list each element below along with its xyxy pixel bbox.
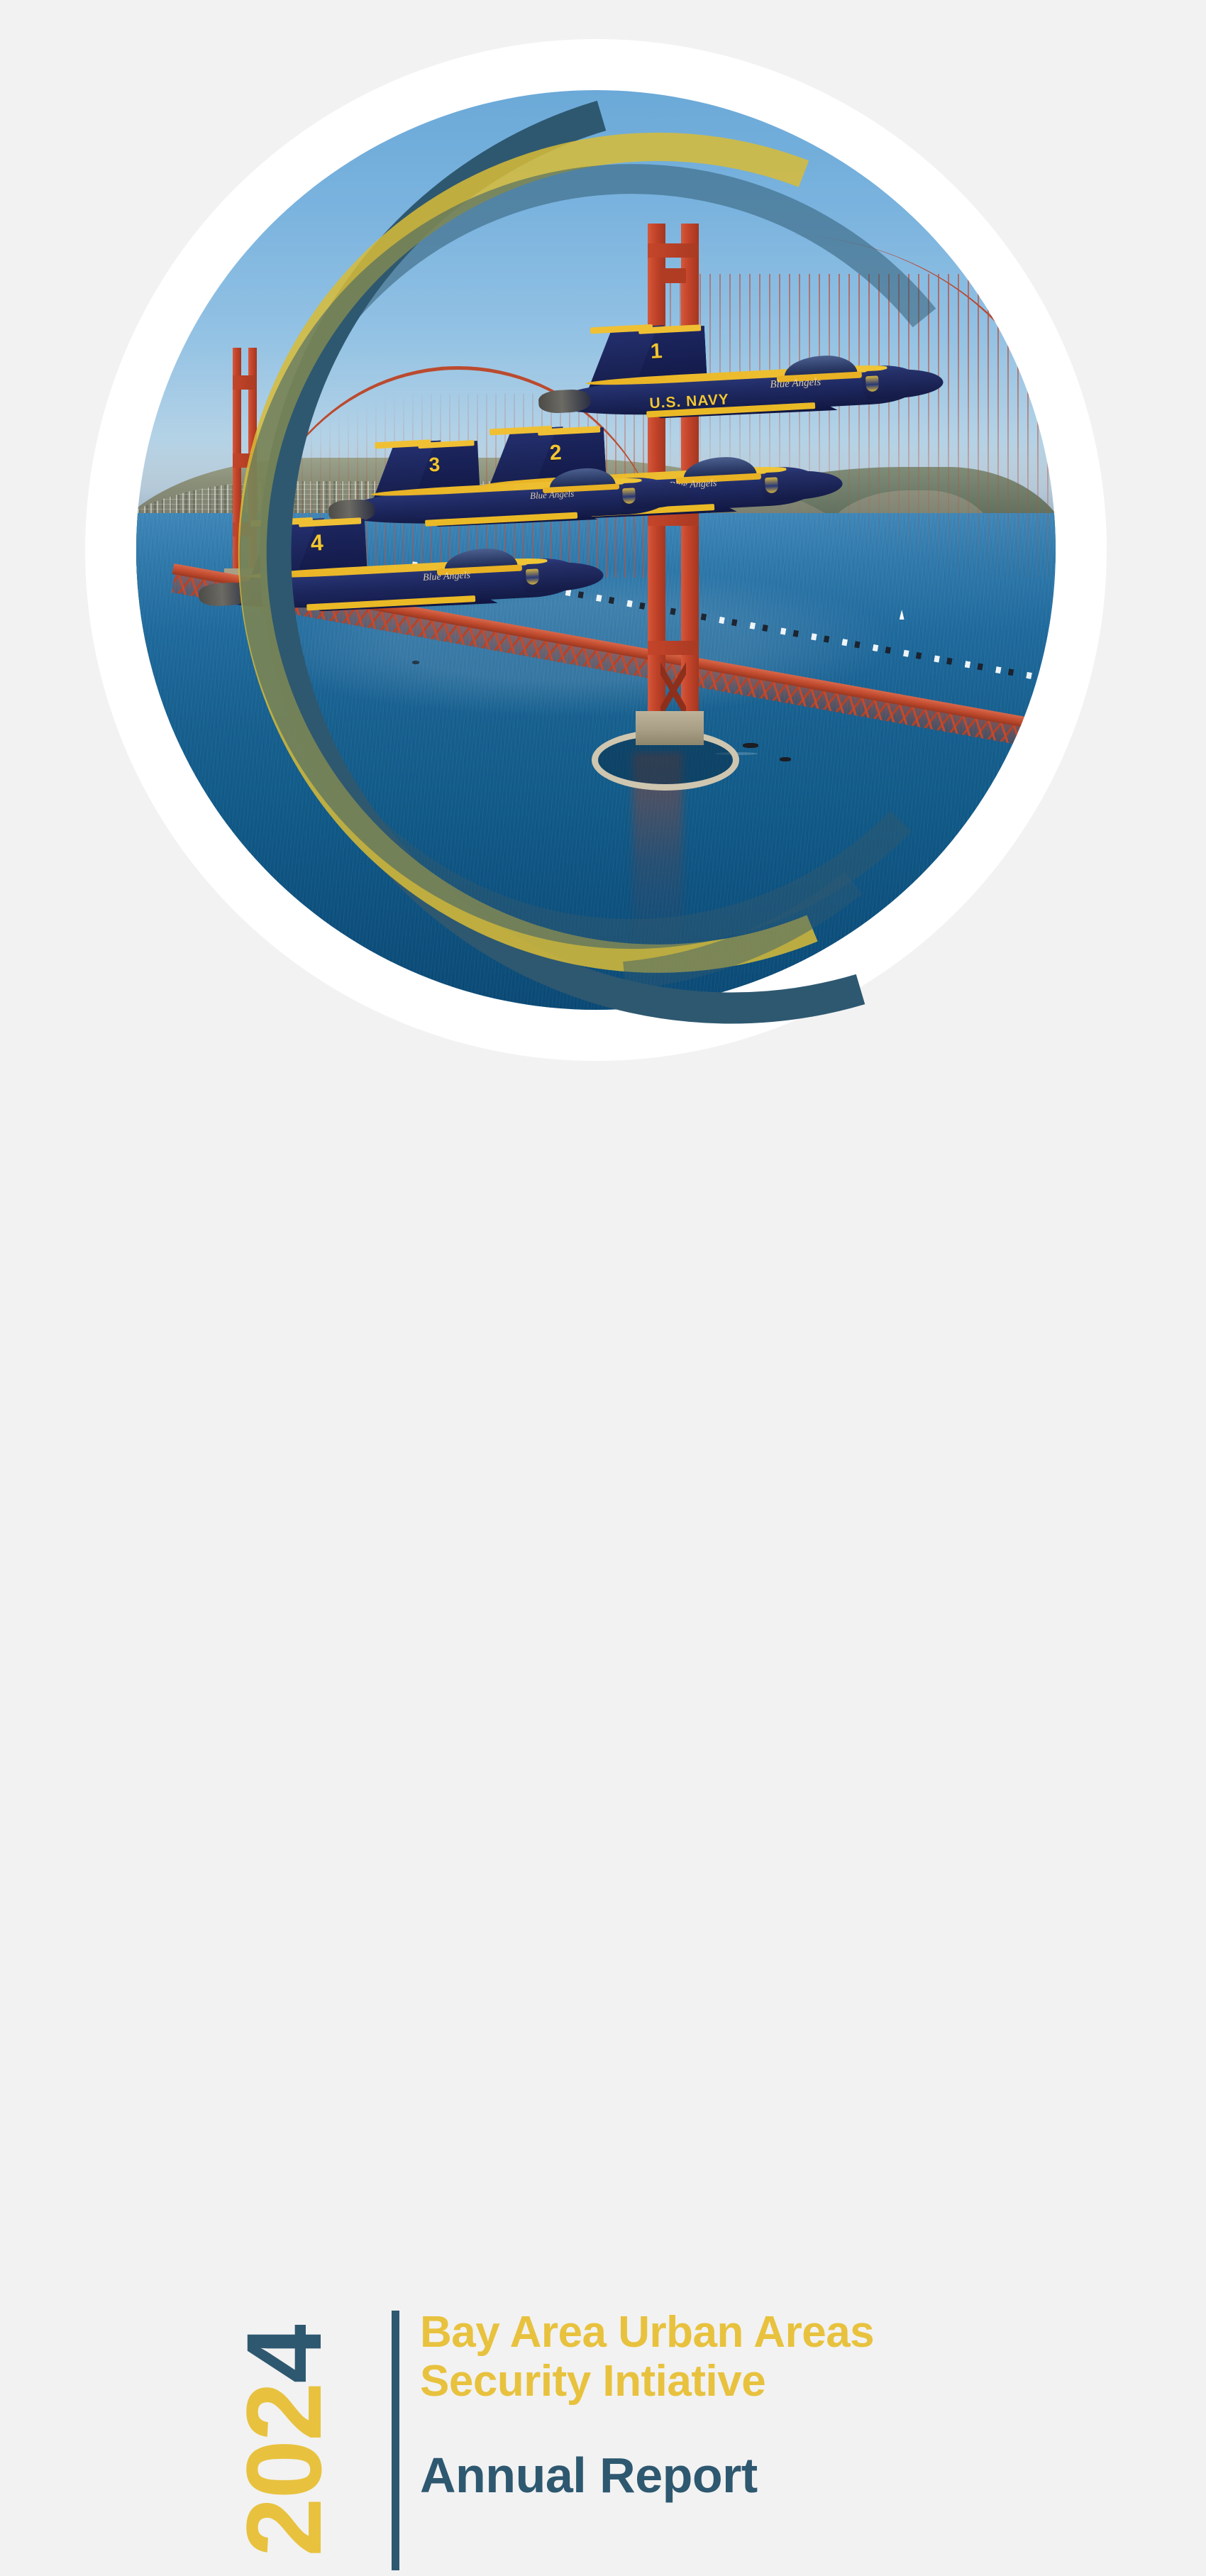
tower-crossbrace xyxy=(648,243,699,258)
hero-photo-circle: 1 U.S. NAVY Blue Angels xyxy=(136,90,1056,1010)
cover-page: 1 U.S. NAVY Blue Angels xyxy=(0,0,1206,1561)
bridge-tower-south-base xyxy=(636,711,704,745)
report-title: Annual Report xyxy=(420,2450,1129,2500)
hero-emblem: 1 U.S. NAVY Blue Angels xyxy=(85,39,1107,1061)
jet-squadron-insignia xyxy=(622,488,636,504)
jet-squadron-insignia xyxy=(525,569,538,585)
year-slate-part: 4 xyxy=(224,2325,343,2383)
year-yellow-part: 202 xyxy=(224,2384,343,2557)
organization-title-line-1: Bay Area Urban Areas xyxy=(420,2308,1129,2357)
tower-crossbrace xyxy=(233,453,257,468)
title-divider xyxy=(392,2311,399,2570)
title-text-group: Bay Area Urban Areas Security Intiative … xyxy=(420,2308,1129,2500)
jet-squadron-insignia xyxy=(764,477,778,493)
blue-angels-jet-4: 4 Blue Angels xyxy=(206,513,580,661)
jet-tail-number-3: 3 xyxy=(428,455,441,475)
title-block: 2024 Bay Area Urban Areas Security Intia… xyxy=(0,1150,1206,1483)
organization-title: Bay Area Urban Areas Security Intiative xyxy=(420,2308,1129,2406)
tower-portal xyxy=(660,268,686,283)
organization-title-line-2: Security Intiative xyxy=(420,2357,1129,2406)
jet-tail-number-4: 4 xyxy=(310,532,323,555)
year-badge: 2024 xyxy=(213,2303,355,2572)
jet-blue-angels-script: Blue Angels xyxy=(530,488,575,502)
golden-gate-blue-angels-photo: 1 U.S. NAVY Blue Angels xyxy=(136,90,1056,1010)
tower-crossbrace xyxy=(648,641,699,655)
jet-squadron-insignia xyxy=(865,375,879,392)
jet-tail-number-1: 1 xyxy=(650,341,663,363)
tower-crossbrace xyxy=(233,375,257,390)
year-label: 2024 xyxy=(231,2306,337,2576)
